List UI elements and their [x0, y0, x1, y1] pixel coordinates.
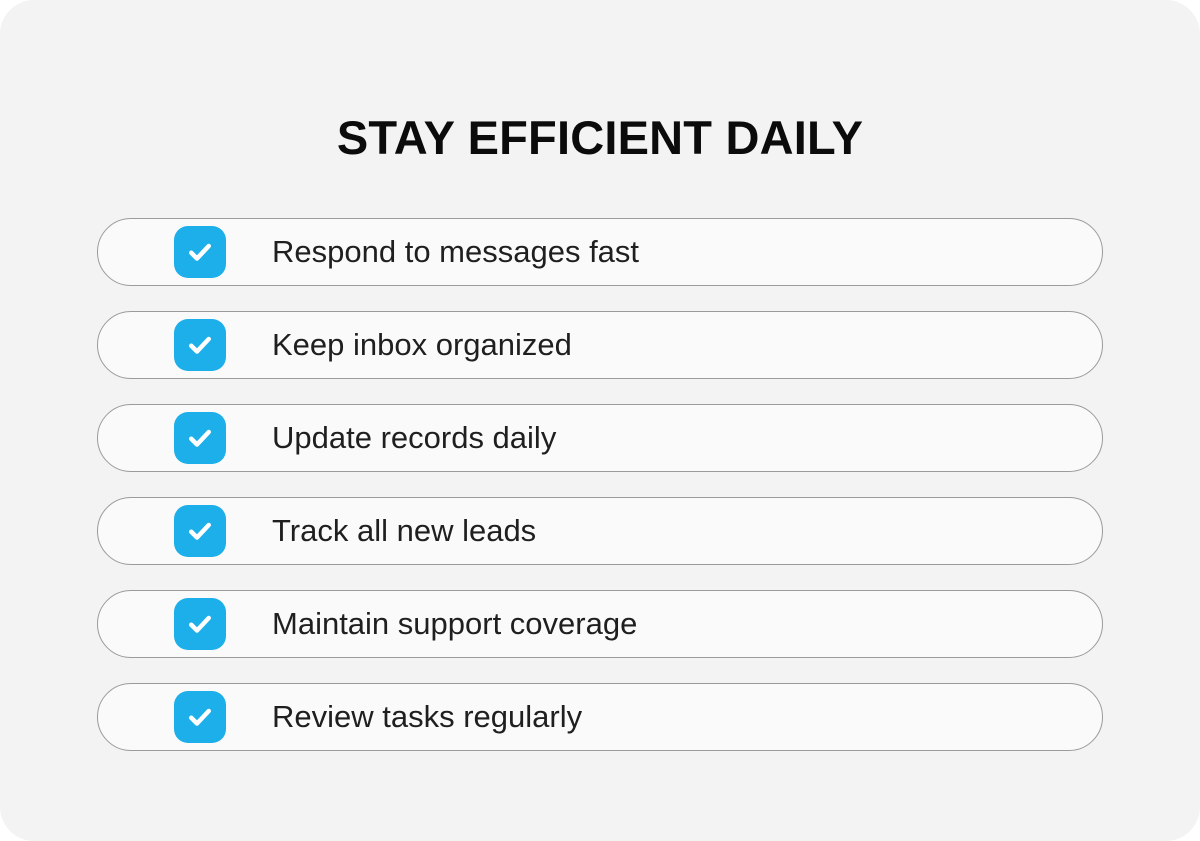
list-item[interactable]: Keep inbox organized [97, 311, 1103, 379]
check-icon [185, 609, 215, 639]
list-item[interactable]: Review tasks regularly [97, 683, 1103, 751]
checkbox-checked[interactable] [174, 226, 226, 278]
list-item-label: Track all new leads [272, 512, 1102, 550]
screenshot-canvas: STAY EFFICIENT DAILY Respond to messages… [0, 0, 1200, 841]
checklist-card: STAY EFFICIENT DAILY Respond to messages… [0, 0, 1200, 841]
list-item[interactable]: Track all new leads [97, 497, 1103, 565]
checkbox-checked[interactable] [174, 598, 226, 650]
list-item-label: Maintain support coverage [272, 605, 1102, 643]
checklist: Respond to messages fast Keep inbox orga… [97, 218, 1103, 751]
checkbox-checked[interactable] [174, 412, 226, 464]
check-icon [185, 702, 215, 732]
check-icon [185, 237, 215, 267]
check-icon [185, 516, 215, 546]
list-item-label: Review tasks regularly [272, 698, 1102, 736]
list-item[interactable]: Respond to messages fast [97, 218, 1103, 286]
check-icon [185, 330, 215, 360]
list-item-label: Update records daily [272, 419, 1102, 457]
page-title: STAY EFFICIENT DAILY [0, 108, 1200, 168]
checkbox-checked[interactable] [174, 691, 226, 743]
list-item-label: Keep inbox organized [272, 326, 1102, 364]
checkbox-checked[interactable] [174, 319, 226, 371]
list-item-label: Respond to messages fast [272, 233, 1102, 271]
list-item[interactable]: Maintain support coverage [97, 590, 1103, 658]
checkbox-checked[interactable] [174, 505, 226, 557]
list-item[interactable]: Update records daily [97, 404, 1103, 472]
check-icon [185, 423, 215, 453]
